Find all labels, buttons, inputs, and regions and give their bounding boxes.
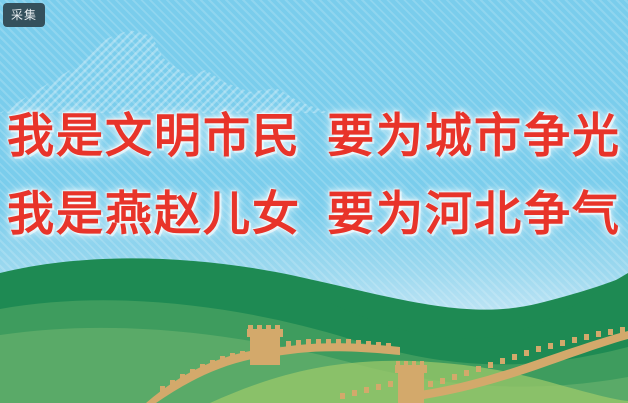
slogan-line-2-left: 我是燕赵儿女 bbox=[7, 175, 301, 244]
slogan-line-1-right: 要为城市争光 bbox=[327, 97, 621, 166]
banner-image: 我是文明市民 要为城市争光 我是燕赵儿女 要为河北争气 采集 bbox=[0, 0, 628, 403]
slogan-block: 我是文明市民 要为城市争光 我是燕赵儿女 要为河北争气 bbox=[0, 92, 628, 248]
slogan-line-1: 我是文明市民 要为城市争光 bbox=[0, 92, 628, 170]
hills-landscape bbox=[0, 243, 628, 403]
slogan-line-1-left: 我是文明市民 bbox=[7, 97, 301, 166]
watchtower-right bbox=[395, 361, 427, 403]
capture-button[interactable]: 采集 bbox=[3, 3, 45, 27]
slogan-line-2: 我是燕赵儿女 要为河北争气 bbox=[0, 170, 628, 248]
slogan-line-2-right: 要为河北争气 bbox=[327, 175, 621, 244]
watchtower-left bbox=[247, 325, 283, 365]
